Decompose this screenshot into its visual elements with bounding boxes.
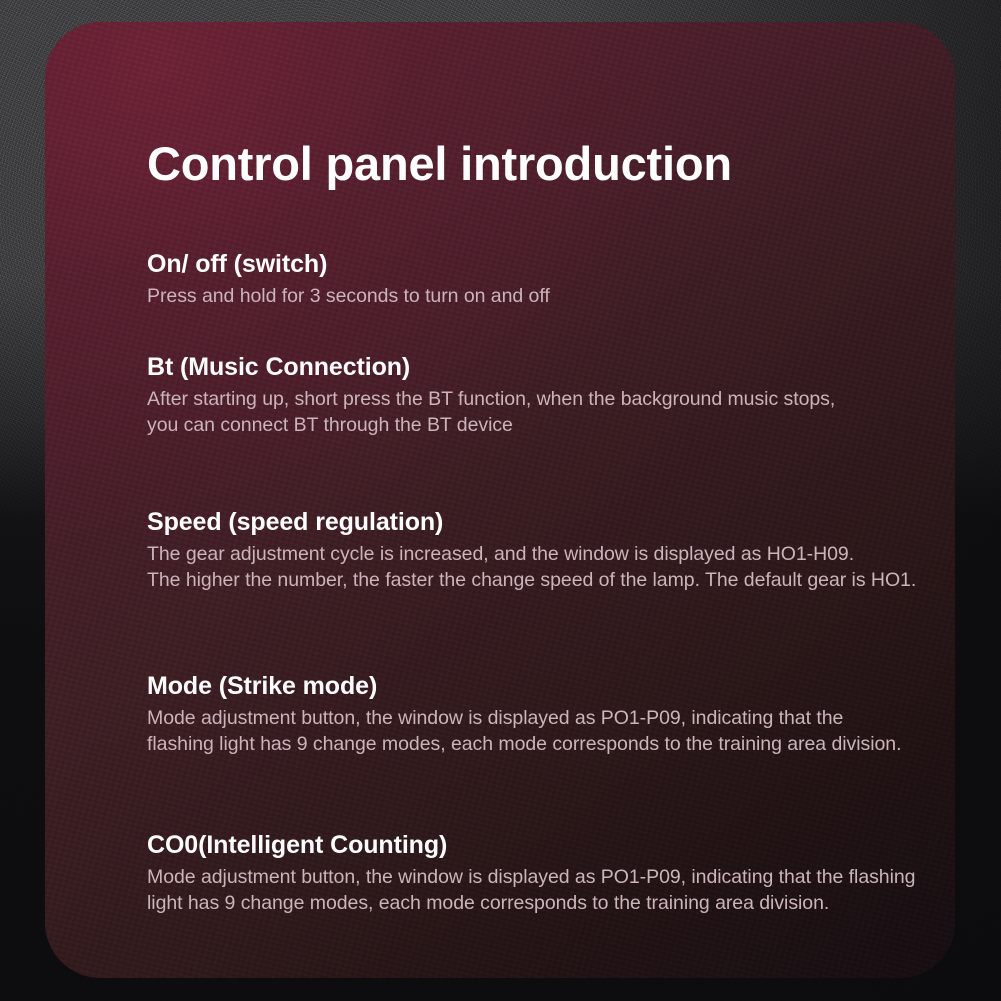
section-speed: Speed (speed regulation) The gear adjust… bbox=[147, 508, 916, 594]
section-body-speed: The gear adjustment cycle is increased, … bbox=[147, 541, 916, 595]
body-line: Mode adjustment button, the window is di… bbox=[147, 705, 901, 732]
body-line: The gear adjustment cycle is increased, … bbox=[147, 541, 916, 568]
section-heading-speed: Speed (speed regulation) bbox=[147, 508, 916, 538]
body-line: After starting up, short press the BT fu… bbox=[147, 386, 835, 413]
section-on-off: On/ off (switch) Press and hold for 3 se… bbox=[147, 250, 550, 309]
body-line: flashing light has 9 change modes, each … bbox=[147, 731, 901, 758]
section-heading-mode: Mode (Strike mode) bbox=[147, 672, 901, 702]
body-line: The higher the number, the faster the ch… bbox=[147, 567, 916, 594]
section-body-bt: After starting up, short press the BT fu… bbox=[147, 386, 835, 440]
section-heading-on-off: On/ off (switch) bbox=[147, 250, 550, 280]
section-intelligent-counting: CO0(Intelligent Counting) Mode adjustmen… bbox=[147, 831, 915, 917]
section-body-intelligent-counting: Mode adjustment button, the window is di… bbox=[147, 864, 915, 918]
info-card: Control panel introduction On/ off (swit… bbox=[45, 22, 955, 978]
body-line: light has 9 change modes, each mode corr… bbox=[147, 890, 915, 917]
section-body-mode: Mode adjustment button, the window is di… bbox=[147, 705, 901, 759]
body-line: Press and hold for 3 seconds to turn on … bbox=[147, 283, 550, 310]
card-content: Control panel introduction On/ off (swit… bbox=[45, 22, 955, 978]
section-heading-bt: Bt (Music Connection) bbox=[147, 353, 835, 383]
section-bt: Bt (Music Connection) After starting up,… bbox=[147, 353, 835, 439]
section-body-on-off: Press and hold for 3 seconds to turn on … bbox=[147, 283, 550, 310]
body-line: you can connect BT through the BT device bbox=[147, 412, 835, 439]
screenshot-canvas: Control panel introduction On/ off (swit… bbox=[0, 0, 1001, 1001]
body-line: Mode adjustment button, the window is di… bbox=[147, 864, 915, 891]
section-mode: Mode (Strike mode) Mode adjustment butto… bbox=[147, 672, 901, 758]
page-title: Control panel introduction bbox=[147, 140, 732, 187]
section-heading-intelligent-counting: CO0(Intelligent Counting) bbox=[147, 831, 915, 861]
